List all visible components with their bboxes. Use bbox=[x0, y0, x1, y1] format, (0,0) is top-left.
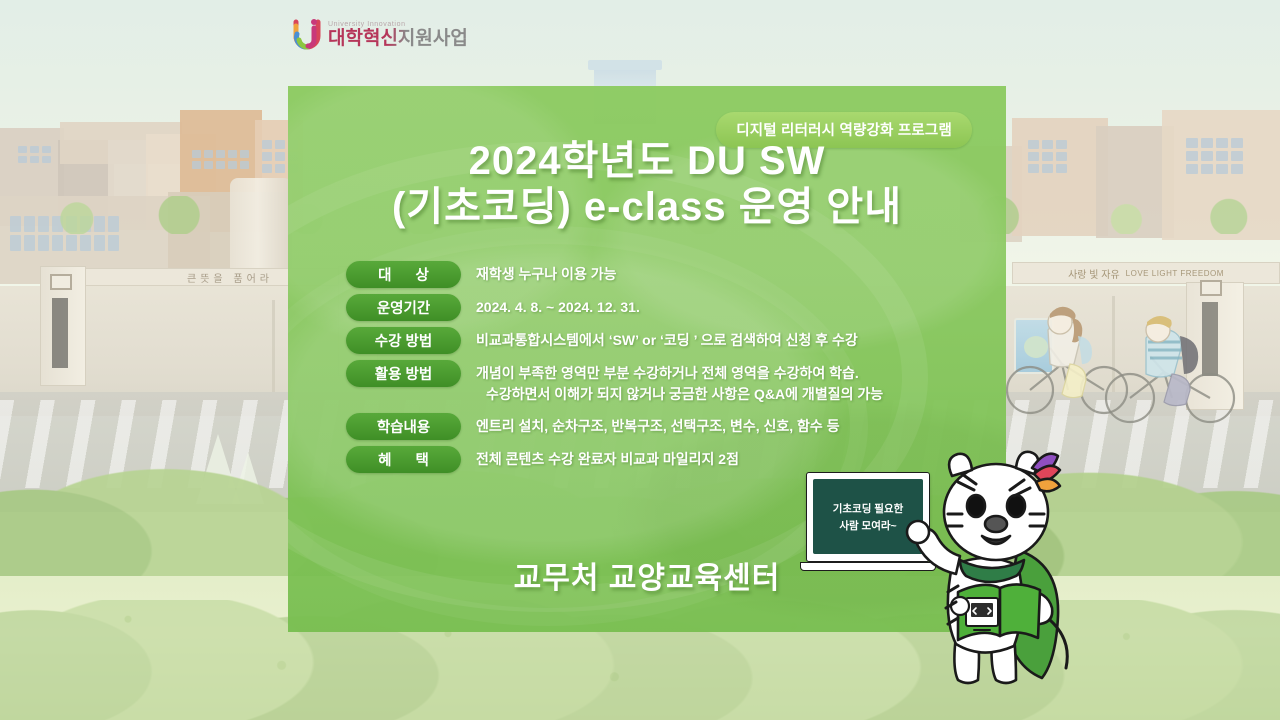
info-row: 운영기간 2024. 4. 8. ~ 2024. 12. 31. bbox=[346, 294, 976, 321]
tiger-mascot bbox=[900, 440, 1090, 690]
mascot-book bbox=[1000, 584, 1040, 638]
info-row: 대 상 재학생 누구나 이용 가능 bbox=[346, 261, 976, 288]
gate-right-text-ko: 사랑 빛 자유 bbox=[1068, 266, 1120, 281]
window-grid bbox=[18, 146, 51, 163]
info-row-value-line1: 비교과통합시스템에서 ‘SW’ or ‘코딩 ’ 으로 검색하여 신청 후 수강 bbox=[476, 332, 858, 348]
poster-title: 2024학년도 DU SW (기초코딩) e-class 운영 안내 bbox=[288, 140, 1006, 229]
street-lamp bbox=[272, 300, 275, 392]
program-logo: University Innovation 대학혁신지원사업 bbox=[292, 14, 472, 56]
info-row-label: 대 상 bbox=[346, 261, 461, 288]
window-grid bbox=[1186, 138, 1243, 174]
gate-right-text: 사랑 빛 자유 LOVE LIGHT FREEDOM bbox=[1012, 262, 1280, 284]
info-row-label: 수강 방법 bbox=[346, 327, 461, 354]
mascot-eye bbox=[1007, 495, 1025, 517]
gate-emblem-icon bbox=[50, 274, 72, 290]
info-row-label: 활용 방법 bbox=[346, 360, 461, 387]
info-row-value-line1: 개념이 부족한 영역만 부분 수강하거나 전체 영역을 수강하여 학습. bbox=[476, 365, 859, 381]
info-row-value: 비교과통합시스템에서 ‘SW’ or ‘코딩 ’ 으로 검색하여 신청 후 수강 bbox=[461, 327, 976, 351]
info-row: 혜 택 전체 콘텐츠 수강 완료자 비교과 마일리지 2점 bbox=[346, 446, 976, 473]
info-row-value: 엔트리 설치, 순차구조, 반복구조, 선택구조, 변수, 신호, 함수 등 bbox=[461, 413, 976, 437]
info-row-value: 개념이 부족한 영역만 부분 수강하거나 전체 영역을 수강하여 학습. 수강하… bbox=[461, 360, 976, 405]
info-row: 활용 방법 개념이 부족한 영역만 부분 수강하거나 전체 영역을 수강하여 학… bbox=[346, 360, 976, 405]
info-row-value: 재학생 누구나 이용 가능 bbox=[461, 261, 976, 285]
window-grid bbox=[192, 150, 249, 169]
logo-name: 대학혁신지원사업 bbox=[328, 28, 468, 50]
mascot-paw bbox=[907, 521, 929, 543]
blackboard-line2: 사람 모여라~ bbox=[839, 518, 896, 533]
info-row-value-line1: 전체 콘텐츠 수강 완료자 비교과 마일리지 2점 bbox=[476, 451, 739, 467]
window-grid bbox=[1028, 140, 1067, 173]
info-table: 대 상 재학생 누구나 이용 가능 운영기간 2024. 4. 8. ~ 202… bbox=[346, 261, 976, 479]
poster-title-line2: (기초코딩) e-class 운영 안내 bbox=[288, 186, 1006, 228]
info-row-value: 전체 콘텐츠 수강 완료자 비교과 마일리지 2점 bbox=[461, 446, 976, 470]
info-row: 학습내용 엔트리 설치, 순차구조, 반복구조, 선택구조, 변수, 신호, 함… bbox=[346, 413, 976, 440]
info-row-label: 운영기간 bbox=[346, 294, 461, 321]
info-row-label: 학습내용 bbox=[346, 413, 461, 440]
info-row-value-line2: 수강하면서 이해가 되지 않거나 궁금한 사항은 Q&A에 개별질의 가능 bbox=[476, 384, 976, 405]
mascot-tuft bbox=[1036, 479, 1060, 492]
info-row-value-line1: 엔트리 설치, 순차구조, 반복구조, 선택구조, 변수, 신호, 함수 등 bbox=[476, 418, 840, 434]
poster-canvas: 큰뜻을 품어라 사랑 빛 자유 LOVE LIGHT FREEDOM bbox=[0, 0, 1280, 720]
cyclist-figure bbox=[1102, 296, 1242, 428]
info-row-label: 혜 택 bbox=[346, 446, 461, 473]
info-row-value-line1: 2024. 4. 8. ~ 2024. 12. 31. bbox=[476, 299, 640, 315]
mascot-medal bbox=[951, 597, 969, 615]
mascot-nose bbox=[985, 516, 1007, 532]
mascot-eye bbox=[967, 495, 985, 517]
gate-right-text-en: LOVE LIGHT FREEDOM bbox=[1126, 269, 1224, 278]
mascot-head bbox=[944, 464, 1048, 560]
info-row-value: 2024. 4. 8. ~ 2024. 12. 31. bbox=[461, 294, 976, 318]
blackboard-line1: 기초코딩 필요한 bbox=[833, 501, 904, 516]
logo-tagline: University Innovation bbox=[328, 21, 468, 28]
info-row-value-line1: 재학생 누구나 이용 가능 bbox=[476, 266, 616, 282]
poster-title-line1: 2024학년도 DU SW bbox=[288, 140, 1006, 182]
u-mark-icon bbox=[292, 18, 322, 52]
info-row: 수강 방법 비교과통합시스템에서 ‘SW’ or ‘코딩 ’ 으로 검색하여 신… bbox=[346, 327, 976, 354]
gate-plaque bbox=[52, 298, 68, 368]
gate-emblem-icon bbox=[1200, 280, 1222, 296]
